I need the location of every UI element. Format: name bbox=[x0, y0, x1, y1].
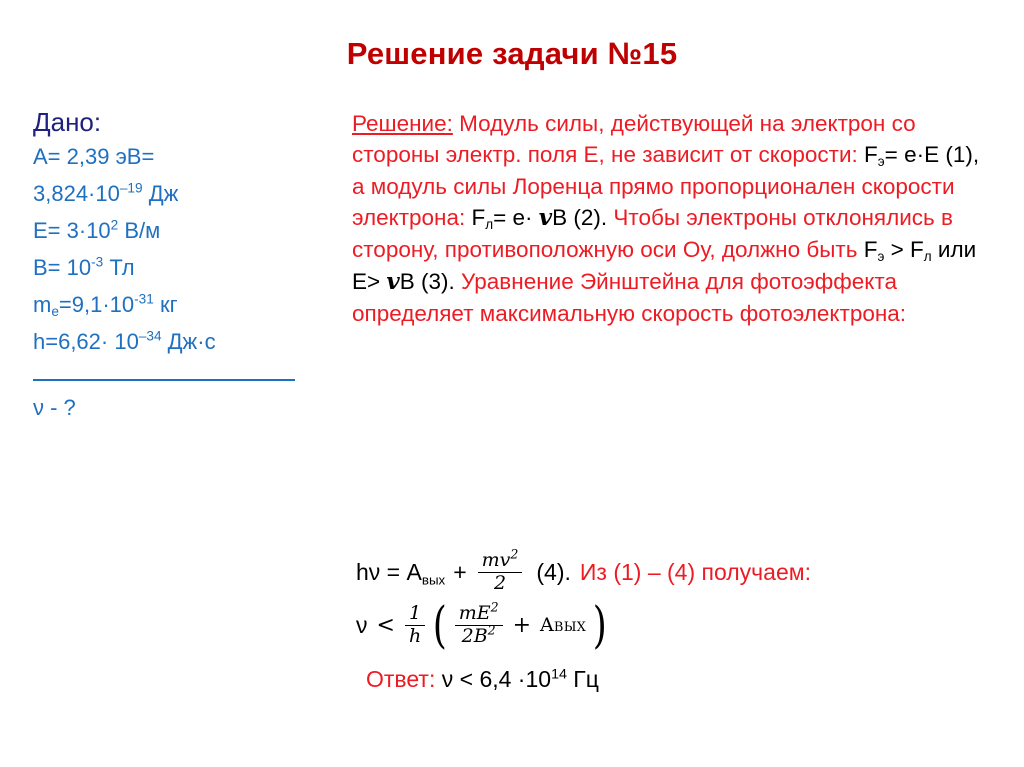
given-divider bbox=[33, 379, 295, 381]
formula-symbol: F bbox=[472, 205, 486, 230]
answer-value-base: ν < 6,4 ·10 bbox=[442, 666, 551, 692]
equation-frequency: ν < 1 h ( mE2 2B2 + Aвых ) bbox=[356, 604, 610, 647]
fraction-one-over-h: 1 h bbox=[405, 604, 425, 647]
given-value-unit: Дж·с bbox=[162, 329, 216, 354]
given-item-planck-constant: h=6,62· 10–34 Дж·с bbox=[33, 331, 333, 353]
plus-operator: + bbox=[513, 613, 531, 638]
formula-electric-force: Fэ= e·E (1), bbox=[864, 142, 979, 167]
fraction-mE2-over-2B2: mE2 2B2 bbox=[455, 604, 503, 647]
given-item-text: A= 2,39 эВ= bbox=[33, 144, 154, 169]
given-item-work-function: A= 2,39 эВ= bbox=[33, 146, 333, 168]
fraction-numerator: 1 bbox=[405, 604, 425, 625]
formula-subscript: л bbox=[485, 217, 493, 232]
given-item-electron-mass: me=9,1·10-31 кг bbox=[33, 294, 333, 316]
given-value-base: B= 10 bbox=[33, 255, 91, 280]
given-value-base: E= 3·10 bbox=[33, 218, 111, 243]
fraction-numerator-text: mv bbox=[482, 549, 511, 571]
solution-label: Решение: bbox=[352, 111, 453, 136]
given-value-unit: кг bbox=[154, 292, 178, 317]
solution-panel: Решение: Модуль силы, действующей на эле… bbox=[352, 108, 988, 329]
equation-einstein: hν = Aвых + mv2 2 (4). Из (1) – (4) полу… bbox=[356, 551, 811, 594]
open-paren: ( bbox=[433, 607, 447, 643]
fraction-denominator: 2 bbox=[478, 572, 523, 594]
fraction-numerator-exponent: 2 bbox=[491, 600, 499, 615]
fraction-denominator-exponent: 2 bbox=[488, 623, 496, 638]
formula-body: = e·E (1), bbox=[885, 142, 979, 167]
given-panel: Дано: A= 2,39 эВ= 3,824·10–19 Дж E= 3·10… bbox=[33, 106, 333, 419]
velocity-symbol: 𝒗 bbox=[386, 268, 399, 295]
answer-value-exponent: 14 bbox=[551, 666, 567, 682]
fraction-denominator-text: 2B bbox=[462, 625, 488, 647]
given-symbol-subscript: e bbox=[51, 304, 59, 319]
given-value-base: h=6,62· 10 bbox=[33, 329, 139, 354]
given-value-exponent: –19 bbox=[120, 181, 143, 196]
equation-note: Из (1) – (4) получаем: bbox=[571, 559, 811, 586]
fraction-numerator: mv2 bbox=[478, 551, 523, 572]
formula-symbol-2: F bbox=[910, 237, 924, 262]
given-item-work-function-joules: 3,824·10–19 Дж bbox=[33, 183, 333, 205]
equation-plus: + bbox=[445, 559, 472, 586]
answer-value-unit: Гц bbox=[567, 666, 599, 692]
formula-body-tail: B (3). bbox=[400, 269, 455, 294]
formula-subscript-2: л bbox=[924, 249, 932, 264]
given-value-exponent: -31 bbox=[134, 292, 154, 307]
given-value-base: =9,1·10 bbox=[59, 292, 134, 317]
given-unknown: ν - ? bbox=[33, 397, 333, 419]
given-value-exponent: –34 bbox=[139, 329, 162, 344]
given-value-unit: В/м bbox=[118, 218, 160, 243]
given-symbol: m bbox=[33, 292, 51, 317]
close-paren: ) bbox=[593, 607, 607, 643]
given-item-magnetic-field: B= 10-3 Тл bbox=[33, 257, 333, 279]
equation-lhs-subscript: вых bbox=[422, 572, 445, 587]
equation-tag: (4). bbox=[527, 559, 571, 586]
fraction-numerator-text: mE bbox=[459, 602, 491, 624]
work-function-term: Aвых bbox=[540, 614, 586, 636]
given-value-unit: Дж bbox=[143, 181, 179, 206]
frequency-symbol: ν bbox=[356, 612, 368, 639]
formula-symbol: F bbox=[864, 142, 878, 167]
equation-lhs: hν = Aвых bbox=[356, 559, 445, 586]
answer-label: Ответ: bbox=[366, 666, 435, 692]
formula-body-tail: B (2). bbox=[552, 205, 607, 230]
page-title: Решение задачи №15 bbox=[0, 36, 1024, 72]
velocity-symbol: 𝒗 bbox=[539, 204, 552, 231]
formula-symbol-1: F bbox=[864, 237, 878, 262]
fraction-kinetic-energy: mv2 2 bbox=[478, 551, 523, 594]
solution-paragraph: Решение: Модуль силы, действующей на эле… bbox=[352, 108, 988, 329]
answer-value: ν < 6,4 ·1014 Гц bbox=[442, 666, 599, 692]
formula-lorentz-force: Fл= e· 𝒗B (2). bbox=[472, 205, 608, 230]
formula-subscript: э bbox=[878, 154, 885, 169]
given-heading: Дано: bbox=[33, 106, 333, 139]
fraction-denominator: h bbox=[405, 625, 425, 647]
fraction-numerator-exponent: 2 bbox=[510, 547, 518, 562]
fraction-denominator: 2B2 bbox=[455, 625, 503, 647]
given-value-exponent: -3 bbox=[91, 255, 103, 270]
formula-body: = e· bbox=[493, 205, 539, 230]
equation-lhs-text: hν = A bbox=[356, 559, 422, 585]
given-value-base: 3,824·10 bbox=[33, 181, 120, 206]
given-value-unit: Тл bbox=[103, 255, 134, 280]
answer-line: Ответ: ν < 6,4 ·1014 Гц bbox=[366, 666, 599, 693]
less-than-operator: < bbox=[377, 613, 395, 638]
given-item-electric-field: E= 3·102 В/м bbox=[33, 220, 333, 242]
formula-operator: > bbox=[884, 237, 910, 262]
